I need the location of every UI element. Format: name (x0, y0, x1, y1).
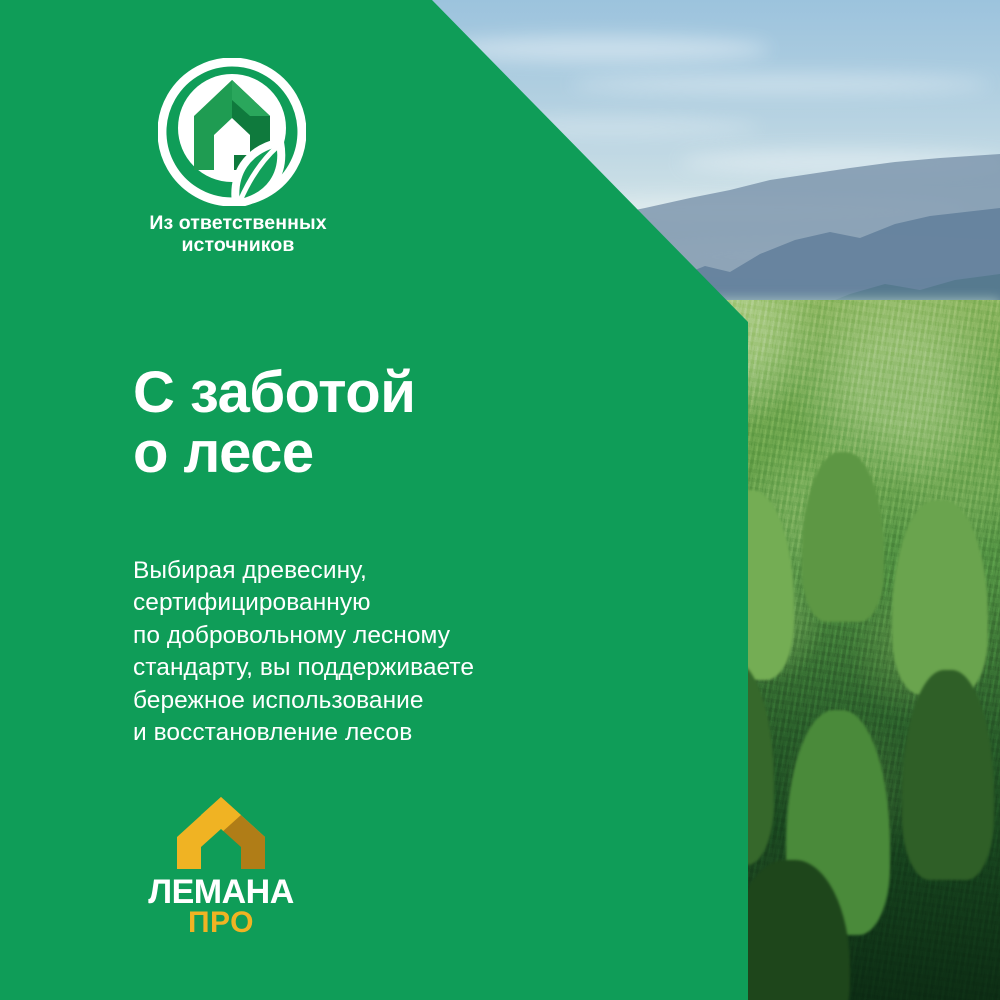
brand-lockup: ЛЕМАНА ПРО (133, 795, 309, 935)
poster-content: Из ответственных источников С заботой о … (0, 0, 1000, 1000)
page-title: С заботой о лесе (133, 363, 415, 482)
lemana-pro-wordmark: ЛЕМАНА ПРО (133, 875, 309, 935)
eco-badge: Из ответственных источников (133, 58, 333, 256)
poster-root: Аэрофотоснимок: зелёный лес и горы в дым… (0, 0, 1000, 1000)
body-copy: Выбирая древесину, сертифицированную по … (133, 555, 474, 750)
brand-word-secondary: ПРО (188, 906, 254, 935)
lemana-house-icon (175, 795, 267, 871)
house-leaf-circle-emblem-icon (158, 58, 306, 206)
eco-badge-caption: Из ответственных источников (133, 212, 343, 256)
